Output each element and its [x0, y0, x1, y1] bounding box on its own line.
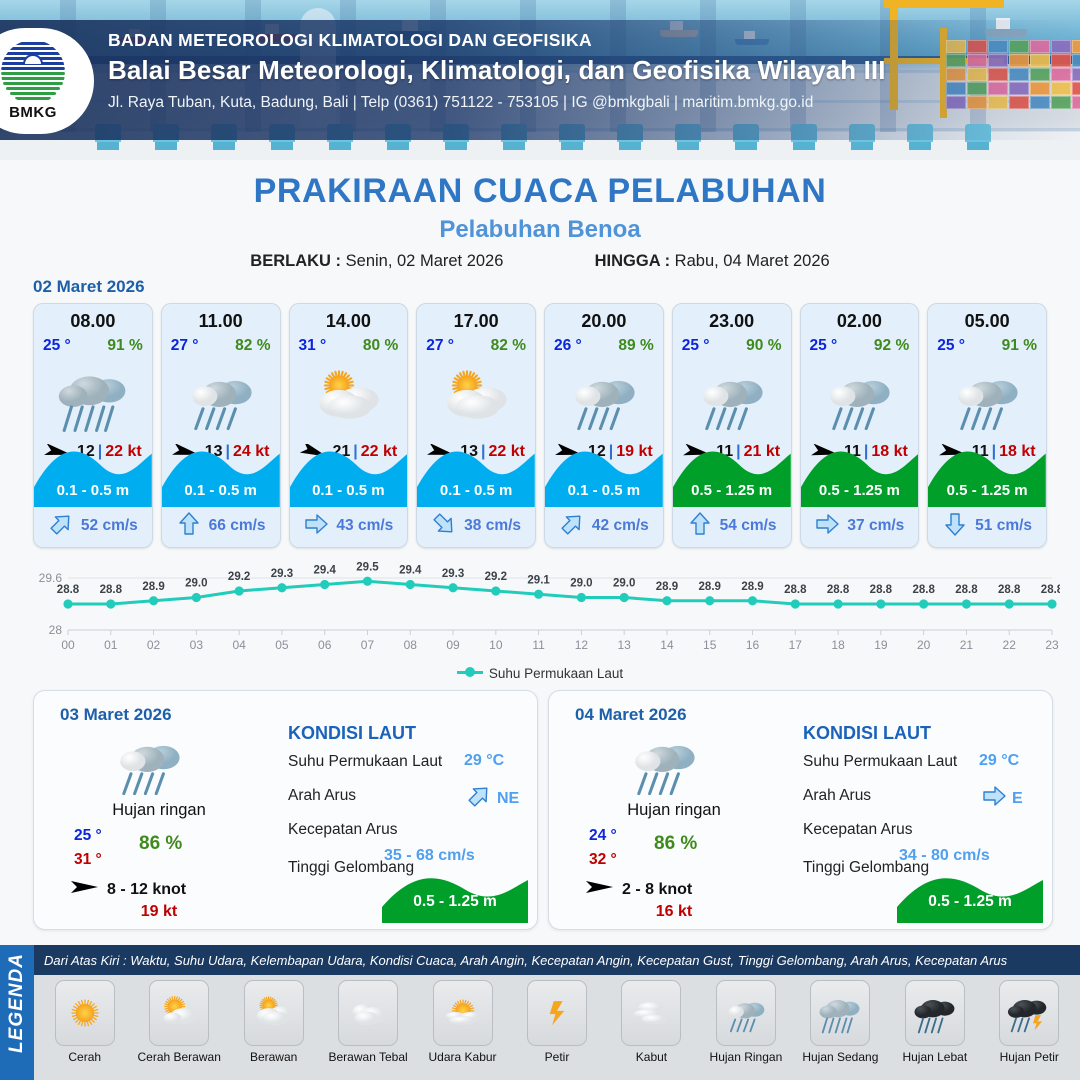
- legend-item-label: Hujan Lebat: [902, 1050, 967, 1064]
- legend-item: Udara Kabur: [416, 980, 509, 1080]
- card-weather-hujan-ringan-icon: [162, 359, 280, 437]
- card-humidity: 80 %: [363, 337, 398, 355]
- legend-item: Hujan Lebat: [888, 980, 981, 1080]
- forecast-card[interactable]: 23.0025 °90 %11|21 kt0.5 - 1.25 m54 cm/s: [672, 303, 792, 548]
- contact-line: Jl. Raya Tuban, Kuta, Badung, Bali | Tel…: [108, 94, 886, 112]
- current-direction-arrow-icon: [942, 511, 968, 542]
- wave-height-value: 0.5 - 1.25 m: [801, 482, 919, 499]
- current-speed-value: 42 cm/s: [592, 517, 649, 535]
- current-direction-arrow-icon: [176, 511, 202, 542]
- card-humidity: 91 %: [107, 337, 142, 355]
- sst-label: Suhu Permukaan Laut: [288, 753, 442, 771]
- svg-text:28.9: 28.9: [699, 581, 721, 593]
- current-speed-value: 51 cm/s: [975, 517, 1032, 535]
- current-direction-label: Arah Arus: [288, 787, 356, 805]
- svg-text:29.0: 29.0: [570, 578, 592, 590]
- panel-wind-arrow-icon: [585, 879, 615, 900]
- svg-text:29.0: 29.0: [613, 578, 635, 590]
- legend-berawan-tebal-icon: [338, 980, 398, 1046]
- svg-text:28.9: 28.9: [741, 581, 763, 593]
- legend-item: Hujan Sedang: [794, 980, 887, 1080]
- forecast-card[interactable]: 17.0027 °82 %13|22 kt0.1 - 0.5 m38 cm/s: [416, 303, 536, 548]
- svg-text:19: 19: [874, 638, 888, 652]
- current-direction-value: NE: [497, 790, 519, 808]
- svg-text:01: 01: [104, 638, 118, 652]
- sst-value: 29 °C: [979, 752, 1019, 770]
- panel-temp-min: 25 °: [74, 827, 102, 845]
- page-header: BMKG BADAN METEOROLOGI KLIMATOLOGI DAN G…: [0, 0, 1080, 160]
- card-humidity: 91 %: [1002, 337, 1037, 355]
- validity-row: BERLAKU : Senin, 02 Maret 2026 HINGGA : …: [0, 252, 1080, 271]
- svg-text:12: 12: [575, 638, 589, 652]
- legend-item-label: Berawan: [250, 1050, 297, 1064]
- card-temperature: 25 °: [937, 337, 965, 355]
- valid-from-label: BERLAKU :: [250, 252, 341, 270]
- panel-temp-max: 31 °: [74, 851, 102, 869]
- svg-text:29.4: 29.4: [314, 565, 337, 577]
- panel-gust-value: 16 kt: [549, 903, 799, 921]
- legend-note: Dari Atas Kiri : Waktu, Suhu Udara, Kele…: [44, 953, 1007, 968]
- current-speed-value: 52 cm/s: [81, 517, 138, 535]
- svg-text:28: 28: [49, 623, 63, 637]
- sea-condition-header: KONDISI LAUT: [288, 723, 416, 744]
- svg-text:29.4: 29.4: [399, 565, 422, 577]
- svg-text:28.8: 28.8: [955, 584, 978, 596]
- wave-height-value: 0.1 - 0.5 m: [34, 482, 152, 499]
- card-humidity: 82 %: [491, 337, 526, 355]
- panel-temp-min: 24 °: [589, 827, 617, 845]
- svg-text:29.1: 29.1: [527, 574, 550, 586]
- legend-item: Berawan: [227, 980, 320, 1080]
- wave-height-value: 0.5 - 1.25 m: [673, 482, 791, 499]
- legend-kabut-icon: [621, 980, 681, 1046]
- sst-chart: 29.62828.80028.80128.90229.00329.20429.3…: [20, 558, 1060, 683]
- panel-weather-hujan-ringan-icon: [104, 727, 194, 799]
- legend-cerah-berawan-icon: [149, 980, 209, 1046]
- current-speed-value: 43 cm/s: [336, 517, 393, 535]
- legend-hujan-sedang-icon: [810, 980, 870, 1046]
- legend-item-label: Petir: [545, 1050, 570, 1064]
- sea-condition-header: KONDISI LAUT: [803, 723, 931, 744]
- legend-item: Berawan Tebal: [321, 980, 414, 1080]
- card-humidity: 82 %: [235, 337, 270, 355]
- svg-text:11: 11: [532, 638, 545, 652]
- panel-wave-value: 0.5 - 1.25 m: [897, 893, 1043, 911]
- card-temperature: 25 °: [43, 337, 71, 355]
- legend-udara-kabur-icon: [433, 980, 493, 1046]
- card-time: 14.00: [290, 311, 408, 332]
- svg-text:28.8: 28.8: [1041, 584, 1060, 596]
- legend-item-label: Hujan Ringan: [710, 1050, 783, 1064]
- legend-item-label: Udara Kabur: [429, 1050, 497, 1064]
- legend-section: LEGENDA Dari Atas Kiri : Waktu, Suhu Uda…: [0, 945, 1080, 1080]
- legend-petir-icon: [527, 980, 587, 1046]
- header-titles: BADAN METEOROLOGI KLIMATOLOGI DAN GEOFIS…: [108, 30, 886, 112]
- card-time: 17.00: [417, 311, 535, 332]
- wave-height-value: 0.5 - 1.25 m: [928, 482, 1046, 499]
- svg-text:18: 18: [831, 638, 845, 652]
- hourly-day-label: 02 Maret 2026: [33, 277, 145, 297]
- legend-item-label: Berawan Tebal: [329, 1050, 408, 1064]
- panel-wave-value: 0.5 - 1.25 m: [382, 893, 528, 911]
- svg-text:02: 02: [147, 638, 161, 652]
- daily-forecast-panel[interactable]: 04 Maret 2026Hujan ringan24 °32 °86 %2 -…: [548, 690, 1053, 930]
- panel-humidity: 86 %: [139, 833, 182, 855]
- svg-text:00: 00: [61, 638, 75, 652]
- current-speed-label: Kecepatan Arus: [803, 821, 912, 839]
- svg-text:28.8: 28.8: [57, 584, 80, 596]
- chart-legend-marker-icon: [457, 671, 483, 674]
- svg-text:09: 09: [446, 638, 460, 652]
- wave-height-value: 0.1 - 0.5 m: [417, 482, 535, 499]
- legend-item: Hujan Ringan: [699, 980, 792, 1080]
- svg-text:06: 06: [318, 638, 332, 652]
- svg-text:04: 04: [232, 638, 246, 652]
- card-weather-hujan-ringan-icon: [801, 359, 919, 437]
- card-time: 23.00: [673, 311, 791, 332]
- card-humidity: 92 %: [874, 337, 909, 355]
- panel-wind-value: 2 - 8 knot: [622, 881, 692, 899]
- panel-temp-max: 32 °: [589, 851, 617, 869]
- card-weather-berawan-icon: [417, 359, 535, 437]
- legend-hujan-petir-icon: [999, 980, 1059, 1046]
- panel-weather-hujan-ringan-icon: [619, 727, 709, 799]
- chart-legend: Suhu Permukaan Laut: [20, 666, 1060, 681]
- valid-from-value: Senin, 02 Maret 2026: [346, 252, 504, 270]
- current-direction-label: Arah Arus: [803, 787, 871, 805]
- page-subtitle: Pelabuhan Benoa: [0, 216, 1080, 244]
- svg-text:29.2: 29.2: [485, 571, 507, 583]
- current-direction-arrow-icon: [559, 511, 585, 542]
- svg-text:29.0: 29.0: [185, 578, 207, 590]
- page-title: PRAKIRAAN CUACA PELABUHAN: [0, 172, 1080, 211]
- legend-item: Cerah: [38, 980, 131, 1080]
- legend-item-label: Hujan Petir: [1000, 1050, 1059, 1064]
- current-direction-arrow-icon: [466, 783, 492, 814]
- forecast-card[interactable]: 11.0027 °82 %13|24 kt0.1 - 0.5 m66 cm/s: [161, 303, 281, 548]
- current-direction-arrow-icon: [431, 511, 457, 542]
- legend-item: Petir: [510, 980, 603, 1080]
- card-humidity: 89 %: [618, 337, 653, 355]
- legend-side-label: LEGENDA: [6, 945, 28, 1061]
- sst-value: 29 °C: [464, 752, 504, 770]
- panel-condition: Hujan ringan: [34, 801, 284, 820]
- svg-text:28.8: 28.8: [912, 584, 935, 596]
- svg-text:21: 21: [960, 638, 974, 652]
- legend-cerah-icon: [55, 980, 115, 1046]
- legend-berawan-icon: [244, 980, 304, 1046]
- current-direction-arrow-icon: [303, 511, 329, 542]
- chart-legend-label: Suhu Permukaan Laut: [489, 666, 623, 681]
- office-name: Balai Besar Meteorologi, Klimatologi, da…: [108, 55, 886, 86]
- svg-text:10: 10: [489, 638, 503, 652]
- svg-text:28.8: 28.8: [827, 584, 850, 596]
- svg-text:29.2: 29.2: [228, 571, 250, 583]
- card-weather-hujan-ringan-icon: [545, 359, 663, 437]
- legend-item-label: Hujan Sedang: [802, 1050, 878, 1064]
- card-time: 08.00: [34, 311, 152, 332]
- legend-hujan-ringan-icon: [716, 980, 776, 1046]
- card-temperature: 31 °: [299, 337, 327, 355]
- card-temperature: 25 °: [810, 337, 838, 355]
- bmkg-logo-emblem: [1, 40, 65, 104]
- card-temperature: 26 °: [554, 337, 582, 355]
- legend-item: Hujan Petir: [983, 980, 1076, 1080]
- card-temperature: 27 °: [171, 337, 199, 355]
- current-speed-label: Kecepatan Arus: [288, 821, 397, 839]
- card-weather-berawan-icon: [290, 359, 408, 437]
- svg-text:29.5: 29.5: [356, 561, 379, 573]
- svg-text:28.8: 28.8: [998, 584, 1021, 596]
- panel-gust-value: 19 kt: [34, 903, 284, 921]
- legend-item-label: Cerah Berawan: [137, 1050, 220, 1064]
- svg-text:29.6: 29.6: [39, 571, 63, 585]
- legend-item-label: Cerah: [68, 1050, 101, 1064]
- current-speed-value: 54 cm/s: [720, 517, 777, 535]
- svg-text:28.9: 28.9: [142, 581, 164, 593]
- card-temperature: 25 °: [682, 337, 710, 355]
- svg-text:17: 17: [789, 638, 803, 652]
- svg-text:16: 16: [746, 638, 760, 652]
- svg-text:15: 15: [703, 638, 717, 652]
- card-time: 02.00: [801, 311, 919, 332]
- svg-text:29.3: 29.3: [271, 568, 293, 580]
- forecast-card[interactable]: 05.0025 °91 %11|18 kt0.5 - 1.25 m51 cm/s: [927, 303, 1047, 548]
- legend-note-bar: Dari Atas Kiri : Waktu, Suhu Udara, Kele…: [34, 945, 1080, 975]
- svg-text:28.8: 28.8: [870, 584, 893, 596]
- forecast-card[interactable]: 08.0025 °91 %12|22 kt0.1 - 0.5 m52 cm/s: [33, 303, 153, 548]
- svg-text:28.9: 28.9: [656, 581, 678, 593]
- current-direction-arrow-icon: [687, 511, 713, 542]
- svg-text:28.8: 28.8: [784, 584, 807, 596]
- svg-text:07: 07: [361, 638, 375, 652]
- current-speed-value: 66 cm/s: [209, 517, 266, 535]
- card-weather-hujan-ringan-icon: [673, 359, 791, 437]
- forecast-card[interactable]: 20.0026 °89 %12|19 kt0.1 - 0.5 m42 cm/s: [544, 303, 664, 548]
- legend-icon-list: CerahCerah BerawanBerawanBerawan TebalUd…: [34, 975, 1080, 1080]
- legend-item: Cerah Berawan: [132, 980, 225, 1080]
- svg-text:20: 20: [917, 638, 931, 652]
- forecast-card[interactable]: 02.0025 °92 %11|18 kt0.5 - 1.25 m37 cm/s: [800, 303, 920, 548]
- wave-height-value: 0.1 - 0.5 m: [162, 482, 280, 499]
- svg-text:23: 23: [1045, 638, 1059, 652]
- card-time: 20.00: [545, 311, 663, 332]
- card-humidity: 90 %: [746, 337, 781, 355]
- org-name: BADAN METEOROLOGI KLIMATOLOGI DAN GEOFIS…: [108, 30, 886, 51]
- bmkg-logo-text: BMKG: [0, 104, 71, 121]
- svg-text:08: 08: [404, 638, 418, 652]
- svg-text:29.3: 29.3: [442, 568, 464, 580]
- current-speed-value: 37 cm/s: [847, 517, 904, 535]
- current-direction-arrow-icon: [981, 783, 1007, 814]
- current-speed-value: 38 cm/s: [464, 517, 521, 535]
- svg-text:14: 14: [660, 638, 674, 652]
- panel-humidity: 86 %: [654, 833, 697, 855]
- svg-text:05: 05: [275, 638, 289, 652]
- current-direction-arrow-icon: [814, 511, 840, 542]
- svg-text:28.8: 28.8: [100, 584, 123, 596]
- card-temperature: 27 °: [426, 337, 454, 355]
- forecast-card[interactable]: 14.0031 °80 %21|22 kt0.1 - 0.5 m43 cm/s: [289, 303, 409, 548]
- daily-forecast-panel[interactable]: 03 Maret 2026Hujan ringan25 °31 °86 %8 -…: [33, 690, 538, 930]
- card-time: 11.00: [162, 311, 280, 332]
- svg-text:22: 22: [1003, 638, 1017, 652]
- legend-item: Kabut: [605, 980, 698, 1080]
- legend-hujan-lebat-icon: [905, 980, 965, 1046]
- svg-text:13: 13: [617, 638, 631, 652]
- card-weather-hujan-ringan-icon: [928, 359, 1046, 437]
- panel-wind-arrow-icon: [70, 879, 100, 900]
- valid-until-value: Rabu, 04 Maret 2026: [675, 252, 830, 270]
- wave-height-value: 0.1 - 0.5 m: [290, 482, 408, 499]
- sst-label: Suhu Permukaan Laut: [803, 753, 957, 771]
- card-time: 05.00: [928, 311, 1046, 332]
- panel-date: 03 Maret 2026: [60, 705, 172, 725]
- panel-date: 04 Maret 2026: [575, 705, 687, 725]
- svg-text:03: 03: [190, 638, 204, 652]
- current-direction-arrow-icon: [48, 511, 74, 542]
- wave-height-value: 0.1 - 0.5 m: [545, 482, 663, 499]
- panel-wind-value: 8 - 12 knot: [107, 881, 186, 899]
- hourly-forecast-list: 08.0025 °91 %12|22 kt0.1 - 0.5 m52 cm/s1…: [33, 303, 1047, 548]
- valid-until-label: HINGGA :: [595, 252, 670, 270]
- legend-side-bar: LEGENDA: [0, 945, 34, 1080]
- card-weather-hujan-sedang-icon: [34, 359, 152, 437]
- legend-item-label: Kabut: [636, 1050, 667, 1064]
- current-direction-value: E: [1012, 790, 1023, 808]
- panel-condition: Hujan ringan: [549, 801, 799, 820]
